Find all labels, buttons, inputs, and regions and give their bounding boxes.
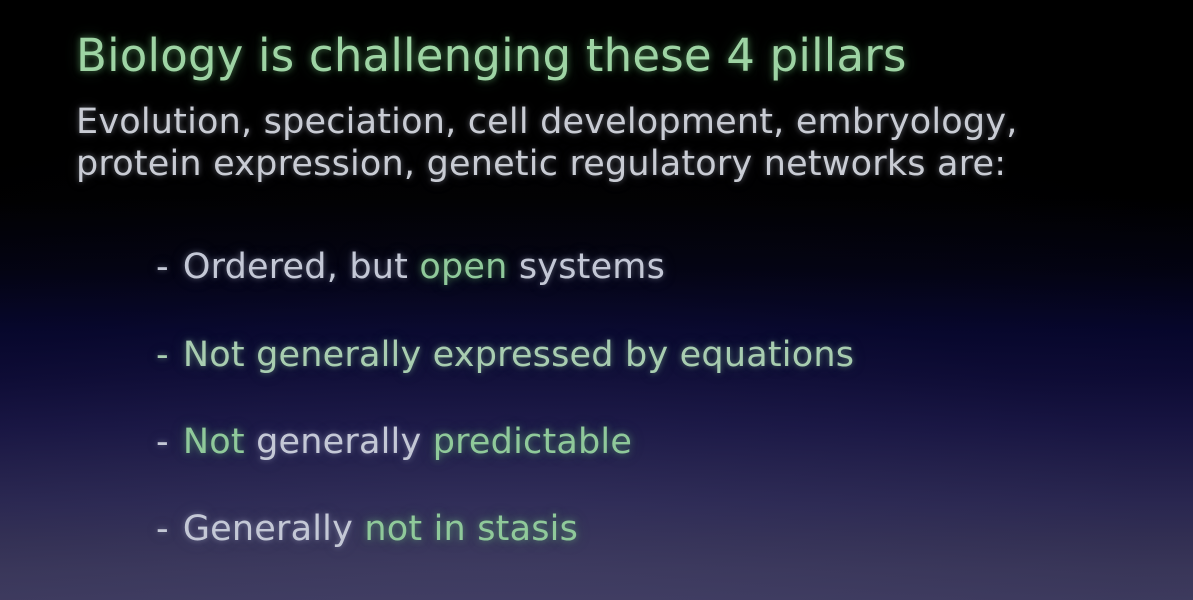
bullet-dash-icon: - — [156, 422, 169, 462]
plain-phrase: systems — [508, 247, 666, 287]
bullet-dash-icon: - — [156, 247, 169, 287]
highlighted-phrase: Not — [183, 422, 245, 462]
bullet-item-4: -Generally not in stasis — [156, 512, 578, 547]
subtitle-line-1: Evolution, speciation, cell development,… — [76, 101, 1018, 143]
bullet-item-2: -Not generally expressed by equations — [156, 338, 854, 373]
bullet-text-4: Generally not in stasis — [183, 509, 578, 549]
plain-phrase: Ordered, but — [183, 247, 420, 287]
bullet-text-3: Not generally predictable — [183, 422, 632, 462]
presentation-slide: Biology is challenging these 4 pillars E… — [0, 0, 1193, 600]
bullet-text-2: Not generally expressed by equations — [183, 335, 854, 375]
bullet-dash-icon: - — [156, 335, 169, 375]
background-vignette — [0, 0, 1193, 600]
bullet-text-1: Ordered, but open systems — [183, 247, 665, 287]
slide-title: Biology is challenging these 4 pillars — [76, 33, 907, 78]
subtitle-line-2: protein expression, genetic regulatory n… — [76, 143, 1018, 185]
plain-phrase: Generally — [183, 509, 365, 549]
bullet-item-1: -Ordered, but open systems — [156, 250, 665, 285]
bullet-item-3: -Not generally predictable — [156, 425, 632, 460]
plain-phrase: generally — [245, 422, 433, 462]
highlighted-phrase: not in stasis — [364, 509, 578, 549]
highlighted-phrase: open — [419, 247, 507, 287]
bullet-dash-icon: - — [156, 509, 169, 549]
slide-subtitle: Evolution, speciation, cell development,… — [76, 101, 1018, 185]
highlighted-phrase: predictable — [433, 422, 632, 462]
plain-phrase: Not generally expressed by equations — [183, 335, 854, 375]
